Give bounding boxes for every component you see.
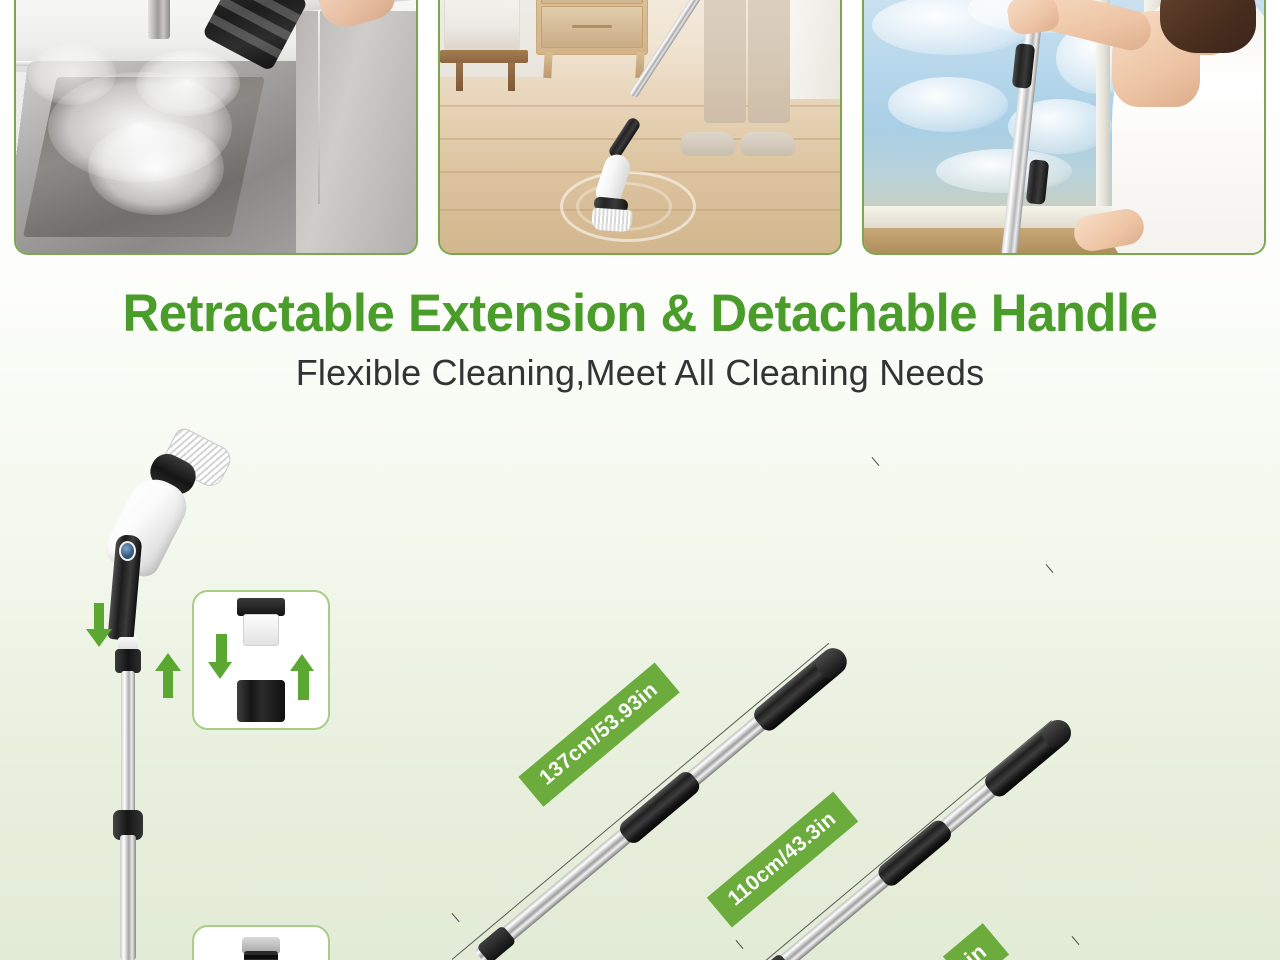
bed-headboard [444, 0, 520, 50]
dimension-tick-110-bottom [736, 940, 744, 949]
inset-arrow-up-shaft [298, 670, 309, 700]
nightstand-drawer [541, 6, 642, 47]
page-title: Retractable Extension & Detachable Handl… [26, 283, 1255, 344]
bed-leg [456, 63, 463, 91]
sink-scene [16, 0, 416, 253]
pole-collar [115, 649, 141, 673]
sink-corner-crease [318, 6, 320, 204]
arrow-down-head [86, 629, 112, 647]
arrow-down-shaft [94, 603, 104, 631]
inset-arrow-down-head [208, 662, 232, 679]
arrow-up-head [155, 653, 181, 671]
foam-patch [88, 121, 224, 215]
pole-lower-section [120, 835, 136, 960]
bed-frame [440, 50, 528, 64]
pole-mid-grip [616, 768, 703, 846]
photo-strip [14, 0, 1266, 255]
photo-panel-kitchen-sink [14, 0, 418, 255]
bed-leg [508, 63, 515, 91]
woman-hair [1160, 0, 1256, 53]
arrow-up-shaft [163, 670, 173, 698]
dimension-tick-partial [1072, 936, 1080, 945]
power-button[interactable] [119, 541, 136, 561]
person-leg [748, 0, 790, 123]
soap-suds [888, 77, 1008, 132]
photo-panel-window [862, 0, 1266, 255]
nightstand-drawer [541, 0, 642, 4]
slipper [740, 132, 796, 156]
drawer-handle [572, 25, 612, 28]
pole-upper-section [121, 671, 135, 819]
page-subtitle: Flexible Cleaning,Meet All Cleaning Need… [0, 352, 1280, 394]
pole-mid-grip [875, 817, 955, 889]
nightstand-leg [543, 52, 552, 78]
inset-detachable-joint [192, 590, 330, 730]
faucet [148, 0, 170, 39]
person-leg [704, 0, 746, 123]
sink-right-wall [296, 11, 416, 253]
measurement-badge-110: 110cm/43.3in [707, 791, 859, 927]
window-scene [864, 0, 1264, 253]
nightstand [536, 0, 648, 55]
measurement-badge-partial: in [943, 923, 1009, 960]
foam-patch [28, 44, 116, 105]
inset-arrow-up-head [290, 654, 314, 671]
foam-patch [136, 50, 240, 116]
inset-screw-thread [192, 925, 330, 960]
joint-white-connector [243, 614, 279, 646]
joint-black-socket [237, 680, 285, 722]
screw-threads [244, 951, 278, 960]
bedroom-floor-scene [440, 0, 840, 253]
dimension-tick-110-top [1046, 564, 1054, 573]
dimension-tick-137-top [872, 457, 880, 466]
measurement-badge-137: 137cm/53.93in [518, 662, 680, 807]
photo-panel-wood-floor [438, 0, 842, 255]
product-infographic-page: Retractable Extension & Detachable Handl… [0, 0, 1280, 960]
soap-suds [936, 149, 1072, 193]
inset-arrow-down-shaft [216, 634, 227, 664]
product-diagram: 137cm/53.93in 110cm/43.3in in [0, 415, 1280, 960]
slipper [680, 132, 736, 156]
dimension-tick-137-bottom [452, 913, 460, 922]
brush-disc [591, 208, 632, 233]
